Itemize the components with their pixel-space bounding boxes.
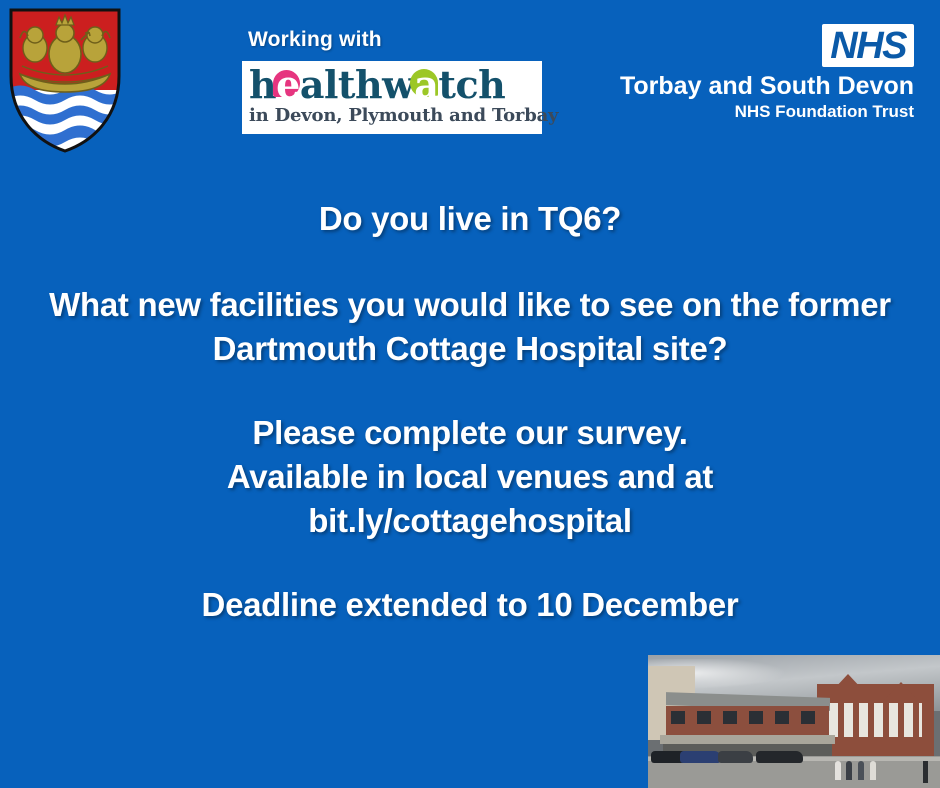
poster-copy: Do you live in TQ6? What new facilities … [0, 197, 940, 627]
healthwatch-logo: healthwatch in Devon, Plymouth and Torba… [242, 61, 542, 134]
spacer [0, 543, 940, 583]
photo-pedestrian [870, 761, 876, 780]
spacer [0, 241, 940, 283]
subhead-line-1: What new facilities you would like to se… [0, 283, 940, 327]
working-with-label: Working with [248, 28, 544, 52]
wordmark-blob-e: e [276, 65, 300, 105]
survey-call-to-action: Please complete our survey. [0, 411, 940, 455]
wordmark-part-2: althw [300, 62, 414, 107]
deadline-notice: Deadline extended to 10 December [0, 583, 940, 627]
healthwatch-strapline: in Devon, Plymouth and Torbay [249, 106, 535, 126]
nhs-logo-text: NHS [830, 26, 906, 66]
photo-pedestrian [858, 761, 864, 780]
nhs-trust-name: Torbay and South Devon [620, 71, 914, 101]
survey-url[interactable]: bit.ly/cottagehospital [0, 499, 940, 543]
hospital-photo [648, 655, 940, 788]
photo-bollard [923, 761, 928, 782]
spacer [0, 371, 940, 411]
poster-canvas: Working with healthwatch in Devon, Plymo… [0, 0, 940, 788]
photo-car [718, 751, 753, 763]
nhs-trust-type: NHS Foundation Trust [620, 102, 914, 122]
photo-pedestrian [835, 761, 841, 780]
photo-canopy [660, 735, 835, 744]
nhs-logo: NHS [822, 24, 914, 67]
photo-pedestrian [846, 761, 852, 780]
photo-car [680, 751, 721, 763]
healthwatch-wordmark: healthwatch [249, 65, 535, 105]
wordmark-part-3: tch [438, 62, 505, 107]
photo-car [756, 751, 803, 763]
survey-availability: Available in local venues and at [0, 455, 940, 499]
photo-window-row [671, 711, 823, 724]
nhs-trust-block: NHS Torbay and South Devon NHS Foundatio… [620, 24, 914, 122]
headline-question: Do you live in TQ6? [0, 197, 940, 241]
healthwatch-partner-block: Working with healthwatch in Devon, Plymo… [242, 28, 544, 134]
wordmark-blob-a: a [414, 65, 438, 105]
wordmark-part-1: h [249, 62, 276, 107]
photo-victorian-windows [829, 703, 922, 738]
coat-of-arms-icon [6, 4, 124, 154]
subhead-line-2: Dartmouth Cottage Hospital site? [0, 327, 940, 371]
